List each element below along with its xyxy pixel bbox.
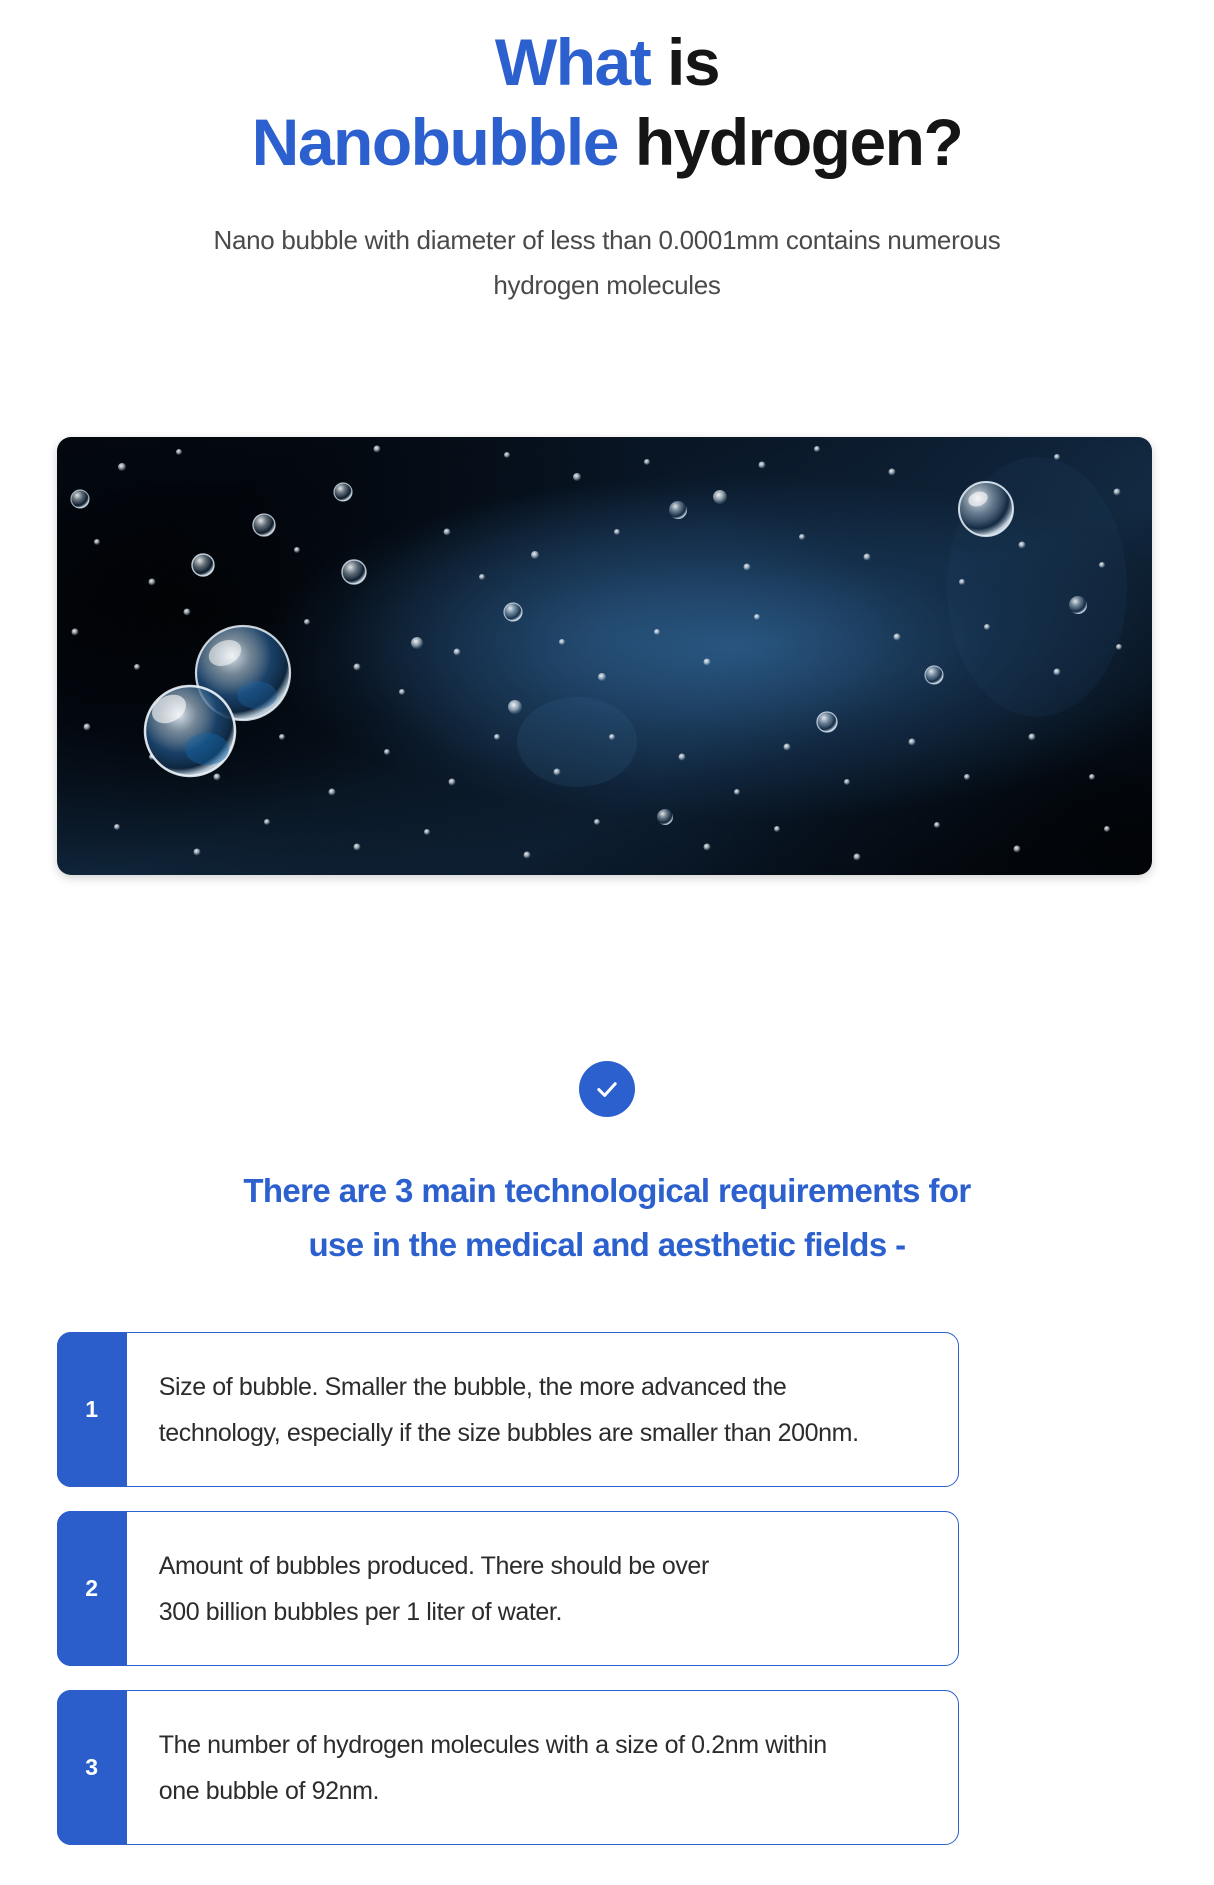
- requirement-text: Size of bubble. Smaller the bubble, the …: [127, 1333, 958, 1486]
- section-heading: There are 3 main technological requireme…: [107, 1164, 1107, 1272]
- section-heading-line-2: use in the medical and aesthetic fields …: [107, 1218, 1107, 1272]
- check-circle-icon: [579, 1061, 635, 1117]
- page-root: What is Nanobubble hydrogen? Nano bubble…: [0, 0, 1214, 1885]
- requirement-text-line-1: Amount of bubbles produced. There should…: [159, 1543, 936, 1589]
- check-glyph: [593, 1075, 621, 1103]
- page-title-rest-1: is: [650, 25, 719, 99]
- requirement-text: Amount of bubbles produced. There should…: [127, 1512, 958, 1665]
- section-heading-line-1: There are 3 main technological requireme…: [243, 1172, 970, 1209]
- page-subtitle: Nano bubble with diameter of less than 0…: [157, 218, 1057, 308]
- page-title: What is Nanobubble hydrogen?: [0, 22, 1214, 182]
- page-subtitle-line-2: hydrogen molecules: [493, 270, 720, 300]
- page-title-accent-1: What: [495, 25, 650, 99]
- requirement-text-line-2: technology, especially if the size bubbl…: [159, 1410, 936, 1456]
- requirement-text-line-1: Size of bubble. Smaller the bubble, the …: [159, 1364, 936, 1410]
- requirement-number-badge: 3: [57, 1690, 127, 1846]
- foreground-bubble: [145, 686, 235, 776]
- page-title-rest-2: hydrogen?: [618, 105, 962, 179]
- bubbles-illustration: [57, 437, 1152, 875]
- page-subtitle-line-1: Nano bubble with diameter of less than 0…: [214, 225, 1001, 255]
- requirement-text-line-2: one bubble of 92nm.: [159, 1768, 936, 1814]
- requirement-text-line-1: The number of hydrogen molecules with a …: [159, 1722, 936, 1768]
- requirement-card[interactable]: 1 Size of bubble. Smaller the bubble, th…: [57, 1332, 959, 1487]
- requirement-text-line-2: 300 billion bubbles per 1 liter of water…: [159, 1589, 936, 1635]
- page-title-line-1: What is: [0, 22, 1214, 102]
- nanobubble-hero-image: [57, 437, 1152, 875]
- requirement-card[interactable]: 2 Amount of bubbles produced. There shou…: [57, 1511, 959, 1666]
- page-title-accent-2: Nanobubble: [252, 105, 618, 179]
- requirement-number-badge: 2: [57, 1511, 127, 1667]
- requirement-number-badge: 1: [57, 1332, 127, 1488]
- page-title-line-2: Nanobubble hydrogen?: [0, 102, 1214, 182]
- requirement-card[interactable]: 3 The number of hydrogen molecules with …: [57, 1690, 959, 1845]
- large-bubble-right: [959, 482, 1013, 536]
- requirement-text: The number of hydrogen molecules with a …: [127, 1691, 958, 1844]
- requirements-list: 1 Size of bubble. Smaller the bubble, th…: [57, 1332, 959, 1845]
